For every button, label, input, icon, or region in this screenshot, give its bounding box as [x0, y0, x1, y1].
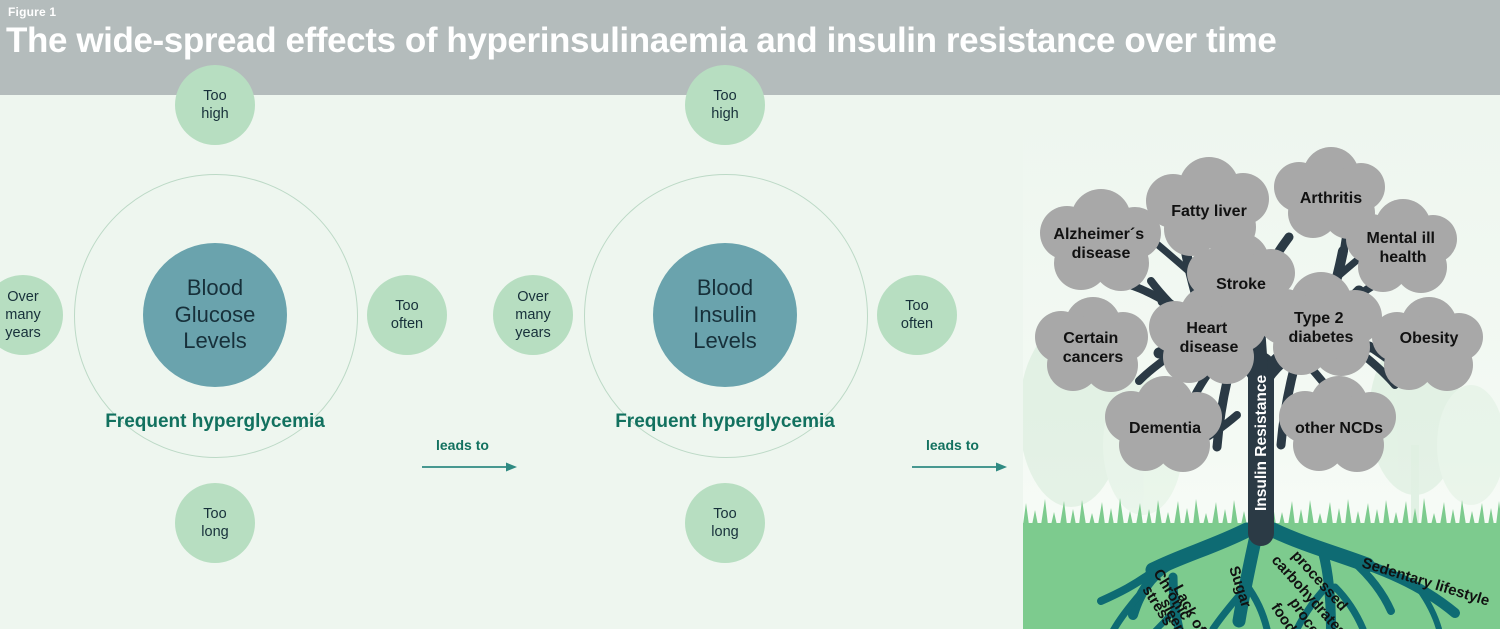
figure-canvas: Too high Too often Too long Over	[0, 95, 1500, 629]
satellite-line: Too	[713, 506, 736, 522]
satellite-too-high[interactable]: Too high	[175, 65, 255, 145]
cloud-label-line: disease	[1180, 339, 1239, 356]
arrow-leads-to-2: leads to	[912, 437, 1008, 481]
core-line: Blood	[187, 275, 243, 300]
arrow-label: leads to	[926, 437, 979, 453]
trunk-label-insulin-resistance: Insulin Resistance	[1253, 375, 1270, 511]
satellite-line: years	[5, 325, 40, 341]
satellite-line: Too	[203, 88, 226, 104]
core-circle-blood-insulin-levels[interactable]: Blood Insulin Levels	[653, 243, 797, 387]
core-line: Glucose	[175, 302, 256, 327]
cloud-label-line: Obesity	[1400, 330, 1459, 347]
satellite-line: many	[5, 307, 40, 323]
satellite-line: often	[901, 316, 933, 332]
label-dementia: Dementia	[1129, 420, 1201, 437]
cloud-label-line: Arthritis	[1300, 190, 1362, 207]
satellite-too-often[interactable]: Too often	[367, 275, 447, 355]
satellite-over-many-years[interactable]: Over many years	[493, 275, 573, 355]
core-circle-blood-glucose-levels[interactable]: Blood Glucose Levels	[143, 243, 287, 387]
cloud-label-line: Alzheimer´s	[1053, 226, 1144, 243]
insulin-resistance-tree-panel: Fatty liver Arthritis Alzheimer´s diseas…	[1023, 115, 1500, 629]
satellite-line: long	[711, 524, 738, 540]
core-line: Levels	[693, 328, 757, 353]
satellite-too-high[interactable]: Too high	[685, 65, 765, 145]
tree-illustration: Fatty liver Arthritis Alzheimer´s diseas…	[1023, 115, 1500, 629]
cloud-label-line: Type 2	[1294, 310, 1344, 327]
cloud-label-line: Heart	[1186, 320, 1228, 337]
core-line: Blood	[697, 275, 753, 300]
satellite-too-long[interactable]: Too long	[175, 483, 255, 563]
cloud-label-line: cancers	[1063, 349, 1124, 366]
satellite-line: Too	[713, 88, 736, 104]
satellite-line: Too	[905, 298, 928, 314]
cycle-caption: Frequent hyperglycemia	[105, 411, 325, 433]
label-arthritis: Arthritis	[1300, 190, 1362, 207]
core-line: Insulin	[693, 302, 757, 327]
label-obesity: Obesity	[1400, 330, 1459, 347]
satellite-line: long	[201, 524, 228, 540]
satellite-line: many	[515, 307, 550, 323]
satellite-line: high	[711, 106, 738, 122]
label-fatty-liver: Fatty liver	[1171, 203, 1247, 220]
figure-root: Figure 1 The wide-spread effects of hype…	[0, 0, 1500, 629]
label-other-ncds: other NCDs	[1295, 420, 1383, 437]
satellite-too-long[interactable]: Too long	[685, 483, 765, 563]
cloud-label-line: disease	[1072, 245, 1131, 262]
satellite-too-often[interactable]: Too often	[877, 275, 957, 355]
satellite-line: years	[515, 325, 550, 341]
cycle-diagram-blood-glucose: Too high Too often Too long Over	[5, 95, 425, 535]
arrow-right-icon	[422, 459, 518, 475]
figure-number: Figure 1	[8, 5, 56, 19]
figure-title: The wide-spread effects of hyperinsulina…	[6, 21, 1276, 61]
label-stroke: Stroke	[1216, 276, 1266, 293]
cloud-label-line: health	[1379, 249, 1426, 266]
cycle-caption: Frequent hyperglycemia	[615, 411, 835, 433]
cloud-label-line: Mental ill	[1367, 230, 1435, 247]
cloud-label-line: diabetes	[1289, 329, 1354, 346]
satellite-line: Too	[395, 298, 418, 314]
cycle-diagram-blood-insulin: Too high Too often Too long Over	[515, 95, 935, 535]
satellite-line: Too	[203, 506, 226, 522]
satellite-line: often	[391, 316, 423, 332]
satellite-line: Over	[7, 289, 38, 305]
cloud-label-line: Dementia	[1129, 420, 1201, 437]
satellite-line: Over	[517, 289, 548, 305]
cloud-label-line: Stroke	[1216, 276, 1266, 293]
arrow-right-icon	[912, 459, 1008, 475]
arrow-label: leads to	[436, 437, 489, 453]
satellite-line: high	[201, 106, 228, 122]
arrow-leads-to-1: leads to	[422, 437, 518, 481]
cloud-label-line: Certain	[1063, 330, 1118, 347]
satellite-over-many-years[interactable]: Over many years	[0, 275, 63, 355]
core-line: Levels	[183, 328, 247, 353]
cloud-label-line: other NCDs	[1295, 420, 1383, 437]
cloud-label-line: Fatty liver	[1171, 203, 1247, 220]
